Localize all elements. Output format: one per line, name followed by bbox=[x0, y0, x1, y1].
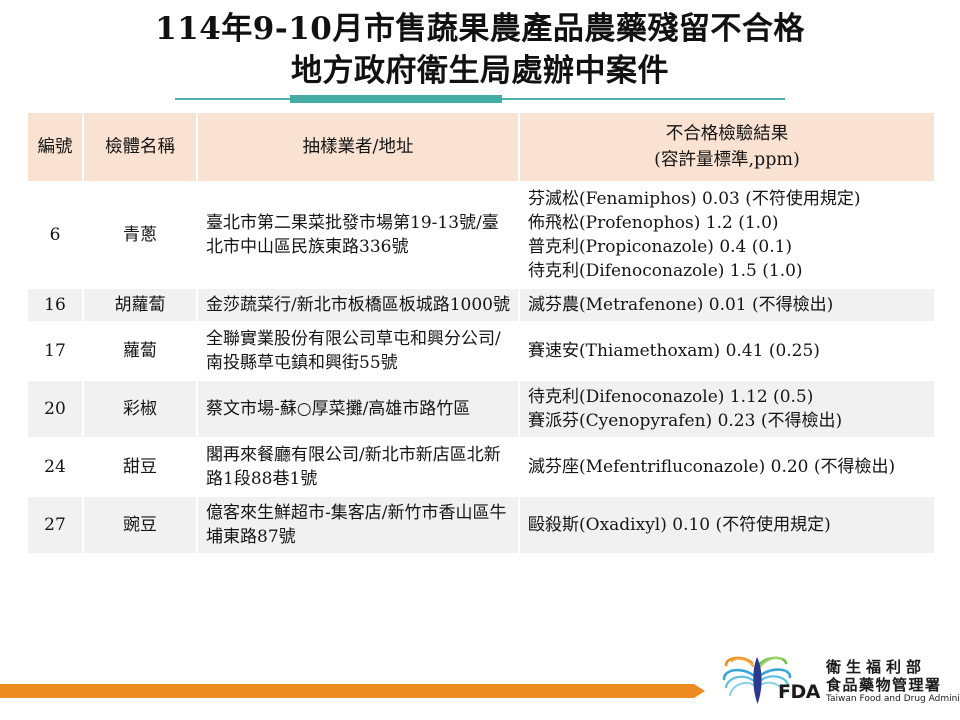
cell-sample-name: 胡蘿蔔 bbox=[83, 288, 197, 322]
cell-id: 6 bbox=[27, 182, 83, 288]
result-line: 滅芬農(Metrafenone) 0.01 (不得檢出) bbox=[528, 293, 926, 317]
report-table-container: 編號 檢體名稱 抽樣業者/地址 不合格檢驗結果 (容許量標準,ppm) 6 青蔥… bbox=[26, 111, 934, 555]
footer-accent-bar bbox=[0, 684, 705, 698]
result-line: 毆殺斯(Oxadixyl) 0.10 (不符使用規定) bbox=[528, 513, 926, 537]
page-title: 114年9-10月市售蔬果農產品農藥殘留不合格 地方政府衛生局處辦中案件 bbox=[0, 8, 960, 92]
table-header: 編號 檢體名稱 抽樣業者/地址 不合格檢驗結果 (容許量標準,ppm) bbox=[27, 112, 935, 182]
table-header-row: 編號 檢體名稱 抽樣業者/地址 不合格檢驗結果 (容許量標準,ppm) bbox=[27, 112, 935, 182]
column-header-id: 編號 bbox=[27, 112, 83, 182]
page-title-line2: 地方政府衛生局處辦中案件 bbox=[0, 50, 960, 92]
cell-result: 滅芬農(Metrafenone) 0.01 (不得檢出) bbox=[519, 288, 935, 322]
cell-id: 27 bbox=[27, 496, 83, 554]
table-row: 16 胡蘿蔔 金莎蔬菜行/新北市板橋區板城路1000號 滅芬農(Metrafen… bbox=[27, 288, 935, 322]
page-title-line1: 114年9-10月市售蔬果農產品農藥殘留不合格 bbox=[0, 8, 960, 50]
cell-result: 滅芬座(Mefentrifluconazole) 0.20 (不得檢出) bbox=[519, 438, 935, 496]
cell-id: 16 bbox=[27, 288, 83, 322]
fda-abbreviation: FDA bbox=[778, 681, 820, 703]
cell-result: 芬滅松(Fenamiphos) 0.03 (不符使用規定) 佈飛松(Profen… bbox=[519, 182, 935, 288]
cell-sample-name: 豌豆 bbox=[83, 496, 197, 554]
result-line: 賽速安(Thiamethoxam) 0.41 (0.25) bbox=[528, 339, 926, 363]
title-underline-thick-rule bbox=[290, 95, 502, 103]
table-row: 6 青蔥 臺北市第二果菜批發市場第19-13號/臺北市中山區民族東路336號 芬… bbox=[27, 182, 935, 288]
agency-name-line2: 食品藥物管理署 bbox=[826, 674, 942, 695]
column-header-result: 不合格檢驗結果 (容許量標準,ppm) bbox=[519, 112, 935, 182]
cell-vendor-address: 全聯實業股份有限公司草屯和興分公司/南投縣草屯鎮和興街55號 bbox=[197, 322, 519, 380]
column-header-vendor-address: 抽樣業者/地址 bbox=[197, 112, 519, 182]
result-line: 待克利(Difenoconazole) 1.5 (1.0) bbox=[528, 259, 926, 283]
cell-id: 20 bbox=[27, 380, 83, 438]
table-row: 20 彩椒 蔡文市場-蘇○厚菜攤/高雄市路竹區 待克利(Difenoconazo… bbox=[27, 380, 935, 438]
result-line: 賽派芬(Cyenopyrafen) 0.23 (不得檢出) bbox=[528, 409, 926, 433]
result-line: 待克利(Difenoconazole) 1.12 (0.5) bbox=[528, 385, 926, 409]
cell-result: 待克利(Difenoconazole) 1.12 (0.5) 賽派芬(Cyeno… bbox=[519, 380, 935, 438]
cell-result: 毆殺斯(Oxadixyl) 0.10 (不符使用規定) bbox=[519, 496, 935, 554]
cell-vendor-address: 臺北市第二果菜批發市場第19-13號/臺北市中山區民族東路336號 bbox=[197, 182, 519, 288]
table-body: 6 青蔥 臺北市第二果菜批發市場第19-13號/臺北市中山區民族東路336號 芬… bbox=[27, 182, 935, 554]
cell-vendor-address: 金莎蔬菜行/新北市板橋區板城路1000號 bbox=[197, 288, 519, 322]
result-line: 普克利(Propiconazole) 0.4 (0.1) bbox=[528, 235, 926, 259]
table-row: 17 蘿蔔 全聯實業股份有限公司草屯和興分公司/南投縣草屯鎮和興街55號 賽速安… bbox=[27, 322, 935, 380]
table-row: 24 甜豆 閣再來餐廳有限公司/新北市新店區北新路1段88巷1號 滅芬座(Mef… bbox=[27, 438, 935, 496]
cell-sample-name: 彩椒 bbox=[83, 380, 197, 438]
fda-logo: FDA 衛生福利部 食品藥物管理署 Taiwan Food and Drug A… bbox=[722, 655, 952, 713]
cell-sample-name: 甜豆 bbox=[83, 438, 197, 496]
cell-vendor-address: 億客來生鮮超市-集客店/新竹市香山區牛埔東路87號 bbox=[197, 496, 519, 554]
cell-sample-name: 青蔥 bbox=[83, 182, 197, 288]
column-header-result-line1: 不合格檢驗結果 bbox=[526, 121, 928, 147]
cell-id: 24 bbox=[27, 438, 83, 496]
column-header-sample-name: 檢體名稱 bbox=[83, 112, 197, 182]
table-row: 27 豌豆 億客來生鮮超市-集客店/新竹市香山區牛埔東路87號 毆殺斯(Oxad… bbox=[27, 496, 935, 554]
result-line: 佈飛松(Profenophos) 1.2 (1.0) bbox=[528, 211, 926, 235]
cell-sample-name: 蘿蔔 bbox=[83, 322, 197, 380]
cell-id: 17 bbox=[27, 322, 83, 380]
cell-result: 賽速安(Thiamethoxam) 0.41 (0.25) bbox=[519, 322, 935, 380]
result-line: 滅芬座(Mefentrifluconazole) 0.20 (不得檢出) bbox=[528, 455, 926, 479]
title-underline-decoration bbox=[0, 94, 960, 106]
column-header-result-line2: (容許量標準,ppm) bbox=[526, 147, 928, 173]
cell-vendor-address: 閣再來餐廳有限公司/新北市新店區北新路1段88巷1號 bbox=[197, 438, 519, 496]
result-line: 芬滅松(Fenamiphos) 0.03 (不符使用規定) bbox=[528, 187, 926, 211]
agency-name-english: Taiwan Food and Drug Administration bbox=[826, 694, 960, 704]
cell-vendor-address: 蔡文市場-蘇○厚菜攤/高雄市路竹區 bbox=[197, 380, 519, 438]
violation-report-table: 編號 檢體名稱 抽樣業者/地址 不合格檢驗結果 (容許量標準,ppm) 6 青蔥… bbox=[26, 111, 936, 555]
